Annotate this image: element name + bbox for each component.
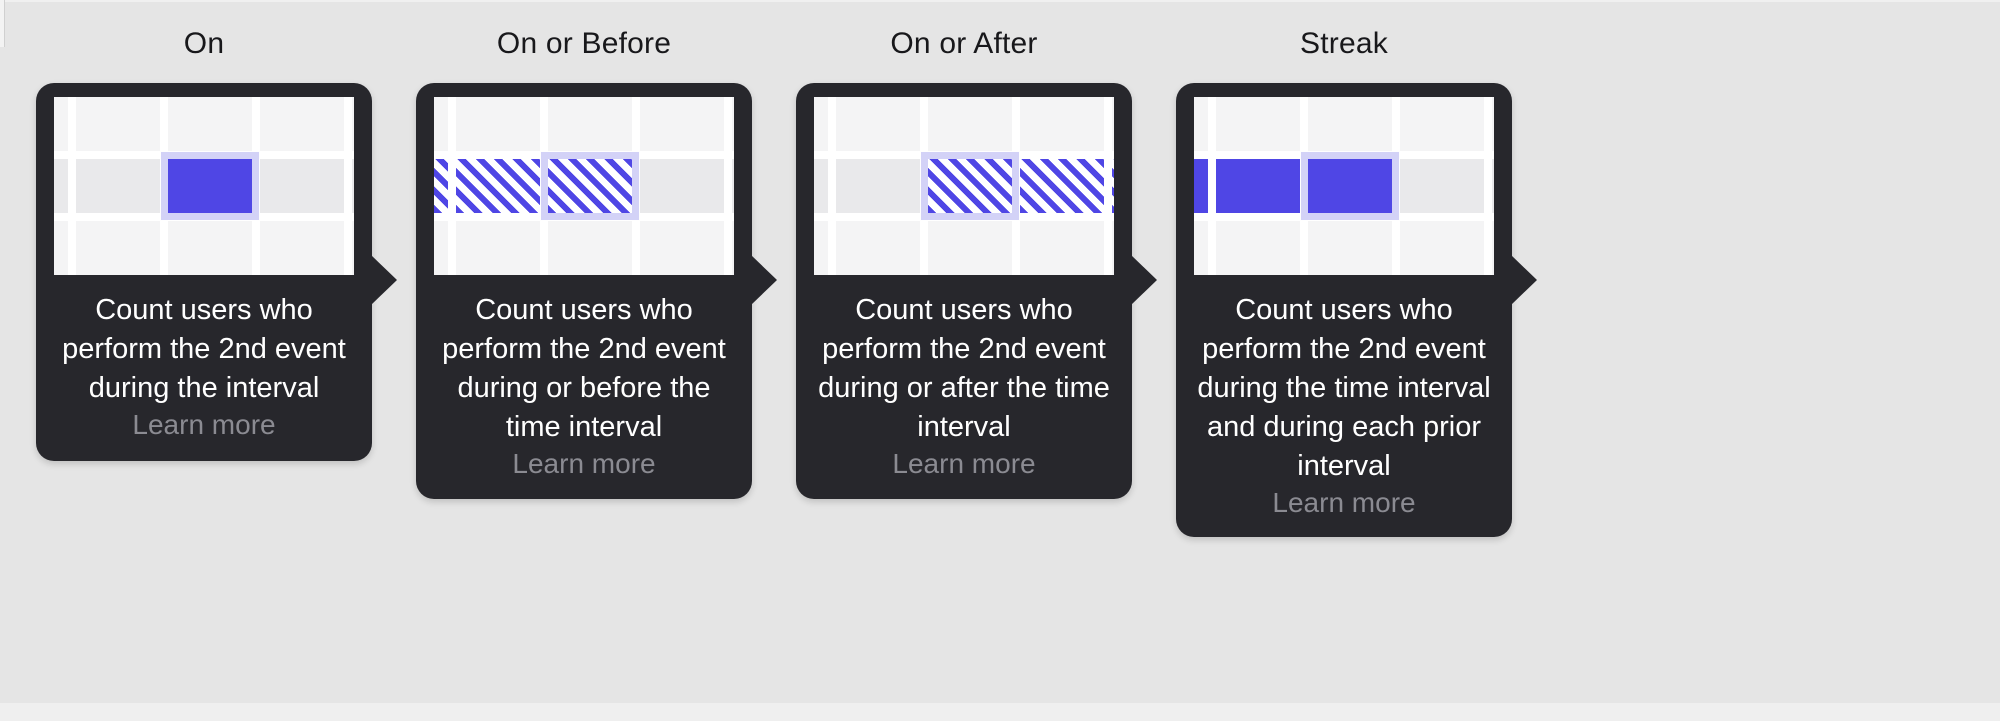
grid-cell [1492, 221, 1494, 275]
learn-more-link[interactable]: Learn more [430, 447, 738, 481]
card-description: Count users who perform the 2nd event du… [430, 291, 738, 447]
event-block [1216, 159, 1300, 213]
grid-cell [1400, 159, 1484, 213]
card-streak[interactable]: Count users who perform the 2nd event du… [1176, 83, 1512, 537]
grid-cell [640, 159, 724, 213]
event-block-hatched [434, 159, 448, 213]
illustration-streak [1194, 97, 1494, 275]
grid-cell [732, 97, 734, 151]
grid-cell [836, 159, 920, 213]
grid-cell [260, 97, 344, 151]
bottom-rail [0, 703, 2000, 721]
grid-cell [548, 97, 632, 151]
comparison-board: On On or Before On or After Streak [0, 0, 2000, 721]
grid-cell [1400, 221, 1484, 275]
grid-cell [1216, 221, 1300, 275]
top-rail [0, 0, 2000, 2]
grid-cell [456, 221, 540, 275]
chevron-right-icon [1511, 255, 1537, 305]
grid-cell [1400, 97, 1484, 151]
column-headers: On On or Before On or After Streak [0, 22, 2000, 66]
grid-cell [54, 221, 68, 275]
grid-cell [352, 159, 354, 213]
learn-more-link[interactable]: Learn more [810, 447, 1118, 481]
grid-cell [168, 97, 252, 151]
grid-cell [928, 97, 1012, 151]
grid-cell [1194, 97, 1208, 151]
grid-cell [836, 97, 920, 151]
grid-cell [54, 97, 68, 151]
grid-cell [1308, 221, 1392, 275]
event-block-hatched [1020, 159, 1104, 213]
grid-cell [352, 221, 354, 275]
grid-cell [548, 221, 632, 275]
column-header-on-or-before: On or Before [416, 22, 752, 66]
timeline-grid [434, 97, 734, 275]
event-block [1308, 159, 1392, 213]
event-block-hatched [1112, 159, 1114, 213]
grid-cell [1492, 97, 1494, 151]
grid-cell [814, 159, 828, 213]
grid-cell [836, 221, 920, 275]
illustration-on-or-after [814, 97, 1114, 275]
grid-cell [1020, 97, 1104, 151]
grid-cell [76, 221, 160, 275]
event-block-hatched [928, 159, 1012, 213]
event-block-hatched [456, 159, 540, 213]
grid-cell [168, 221, 252, 275]
learn-more-link[interactable]: Learn more [1190, 486, 1498, 520]
timeline-grid [814, 97, 1114, 275]
chevron-right-icon [751, 255, 777, 305]
grid-cell [1308, 97, 1392, 151]
grid-cell [260, 159, 344, 213]
column-header-on-or-after: On or After [796, 22, 1132, 66]
grid-cell [1216, 97, 1300, 151]
card-description: Count users who perform the 2nd event du… [50, 291, 358, 408]
learn-more-link[interactable]: Learn more [50, 408, 358, 442]
grid-cell [352, 97, 354, 151]
grid-cell [54, 159, 68, 213]
card-on-or-before[interactable]: Count users who perform the 2nd event du… [416, 83, 752, 499]
timeline-grid [1194, 97, 1494, 275]
illustration-on-or-before [434, 97, 734, 275]
grid-cell [814, 221, 828, 275]
event-block [1194, 159, 1208, 213]
grid-cell [1194, 221, 1208, 275]
card-on[interactable]: Count users who perform the 2nd event du… [36, 83, 372, 461]
grid-cell [456, 97, 540, 151]
grid-cell [1112, 97, 1114, 151]
grid-cell [814, 97, 828, 151]
grid-cell [434, 221, 448, 275]
event-block [168, 159, 252, 213]
card-description: Count users who perform the 2nd event du… [810, 291, 1118, 447]
chevron-right-icon [371, 255, 397, 305]
chevron-right-icon [1131, 255, 1157, 305]
card-description: Count users who perform the 2nd event du… [1190, 291, 1498, 486]
grid-cell [1020, 221, 1104, 275]
grid-cell [640, 221, 724, 275]
column-header-on: On [36, 22, 372, 66]
grid-cell [76, 97, 160, 151]
grid-cell [732, 159, 734, 213]
grid-cell [1112, 221, 1114, 275]
event-block-hatched [548, 159, 632, 213]
grid-cell [640, 97, 724, 151]
grid-cell [76, 159, 160, 213]
illustration-on [54, 97, 354, 275]
grid-cell [928, 221, 1012, 275]
grid-cell [260, 221, 344, 275]
grid-cell [732, 221, 734, 275]
grid-cell [1492, 159, 1494, 213]
column-header-streak: Streak [1176, 22, 1512, 66]
grid-cell [434, 97, 448, 151]
card-on-or-after[interactable]: Count users who perform the 2nd event du… [796, 83, 1132, 499]
timeline-grid [54, 97, 354, 275]
